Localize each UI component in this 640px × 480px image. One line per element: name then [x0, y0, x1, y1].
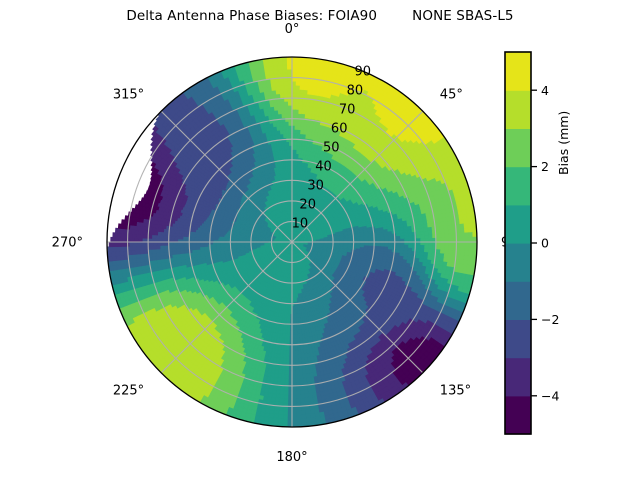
contour-cell [300, 85, 304, 89]
contour-cell [445, 246, 449, 250]
contour-cell [292, 61, 297, 65]
contour-cell [301, 65, 306, 69]
contour-cell [296, 101, 300, 105]
contour-cell [429, 246, 433, 250]
contour-cell [296, 69, 301, 73]
contour-cell [440, 250, 444, 254]
contour-cell [292, 69, 297, 73]
contour-cell [444, 230, 448, 234]
contour-cell [429, 235, 433, 239]
contour-cell [421, 245, 425, 249]
contour-cell [295, 109, 299, 113]
contour-cell [468, 251, 472, 256]
contour-cell [465, 242, 469, 247]
contour-cell [441, 234, 445, 238]
contour-cell [441, 238, 445, 242]
contour-cell [400, 236, 404, 239]
contour-cell [296, 85, 300, 89]
contour-cell [412, 235, 416, 238]
contour-cell [292, 89, 296, 93]
contour-cell [292, 93, 296, 97]
contour-cell [301, 69, 306, 73]
contour-cell [437, 246, 441, 250]
contour-cell [457, 242, 461, 246]
contour-cell [465, 237, 469, 242]
contour-cell [464, 228, 468, 233]
contour-cell [428, 231, 432, 235]
contour-cell [448, 250, 452, 254]
contour-cell [465, 247, 469, 252]
contour-cell [425, 235, 429, 239]
contour-cell [445, 238, 449, 242]
contour-cell [436, 230, 440, 234]
contour-cell [436, 226, 440, 230]
contour-cell [297, 65, 302, 69]
contour-cell [300, 81, 304, 85]
contour-cell [469, 237, 473, 242]
contour-cell [469, 247, 473, 252]
contour-cell [296, 81, 300, 85]
contour-cell [441, 242, 445, 246]
contour-cell [416, 232, 420, 236]
contour-cell [424, 231, 428, 235]
contour-cell [296, 89, 300, 93]
contour-cell [461, 237, 465, 242]
contour-cell [301, 73, 306, 77]
contour-cell [429, 242, 433, 246]
contour-cell [396, 236, 400, 239]
figure-title: Delta Antenna Phase Biases: FOIA90 NONE … [0, 8, 640, 24]
contour-cell [456, 251, 460, 256]
contour-cell [292, 73, 296, 77]
contour-cell [440, 230, 444, 234]
contour-cell [408, 236, 412, 239]
contour-cell [449, 238, 453, 242]
contour-cell [444, 250, 448, 254]
contour-cell [292, 65, 297, 69]
contour-cell [464, 251, 468, 256]
contour-cell [461, 246, 465, 251]
contour-cell [292, 85, 296, 89]
figure-canvas: Delta Antenna Phase Biases: FOIA90 NONE … [0, 0, 640, 480]
contour-cell [448, 229, 452, 233]
contour-cell [461, 242, 465, 247]
contour-cell [445, 234, 449, 238]
contour-cell [461, 233, 465, 238]
contour-cell [465, 233, 469, 238]
contour-cell [441, 246, 445, 250]
contour-cell [420, 232, 424, 236]
contour-cell [417, 235, 421, 238]
contour-cell [449, 246, 453, 250]
contour-cell [457, 246, 461, 251]
contour-cell [297, 61, 302, 65]
contour-cell [421, 235, 425, 239]
contour-cell [429, 238, 433, 242]
contour-cell [460, 228, 464, 233]
contour-cell [296, 93, 300, 97]
contour-cell [440, 226, 444, 230]
contour-cell [425, 245, 429, 249]
contour-cell [460, 251, 464, 256]
contour-cell [296, 73, 301, 77]
contour-cell [437, 234, 441, 238]
contour-cell [449, 242, 453, 246]
contour-cell [456, 229, 460, 234]
contour-cell [300, 89, 304, 93]
contour-cell [295, 105, 299, 109]
contour-cell [457, 238, 461, 242]
contour-cell [437, 242, 441, 246]
contour-cell [404, 236, 408, 239]
contour-cell [469, 242, 473, 247]
contour-cell [301, 61, 306, 65]
contour-cell [457, 233, 461, 238]
contour-cell [445, 242, 449, 246]
polar-axes[interactable]: 102030405060708090 0°45°90135°180°225°27… [60, 38, 480, 448]
contour-cell [292, 81, 296, 85]
contour-cell [468, 228, 472, 233]
contour-cell [292, 101, 296, 105]
contour-cell [469, 233, 473, 238]
contour-cell [437, 238, 441, 242]
polar-plot-svg[interactable]: 102030405060708090 0°45°90135°180°225°27… [60, 38, 480, 448]
contour-cell [449, 234, 453, 238]
